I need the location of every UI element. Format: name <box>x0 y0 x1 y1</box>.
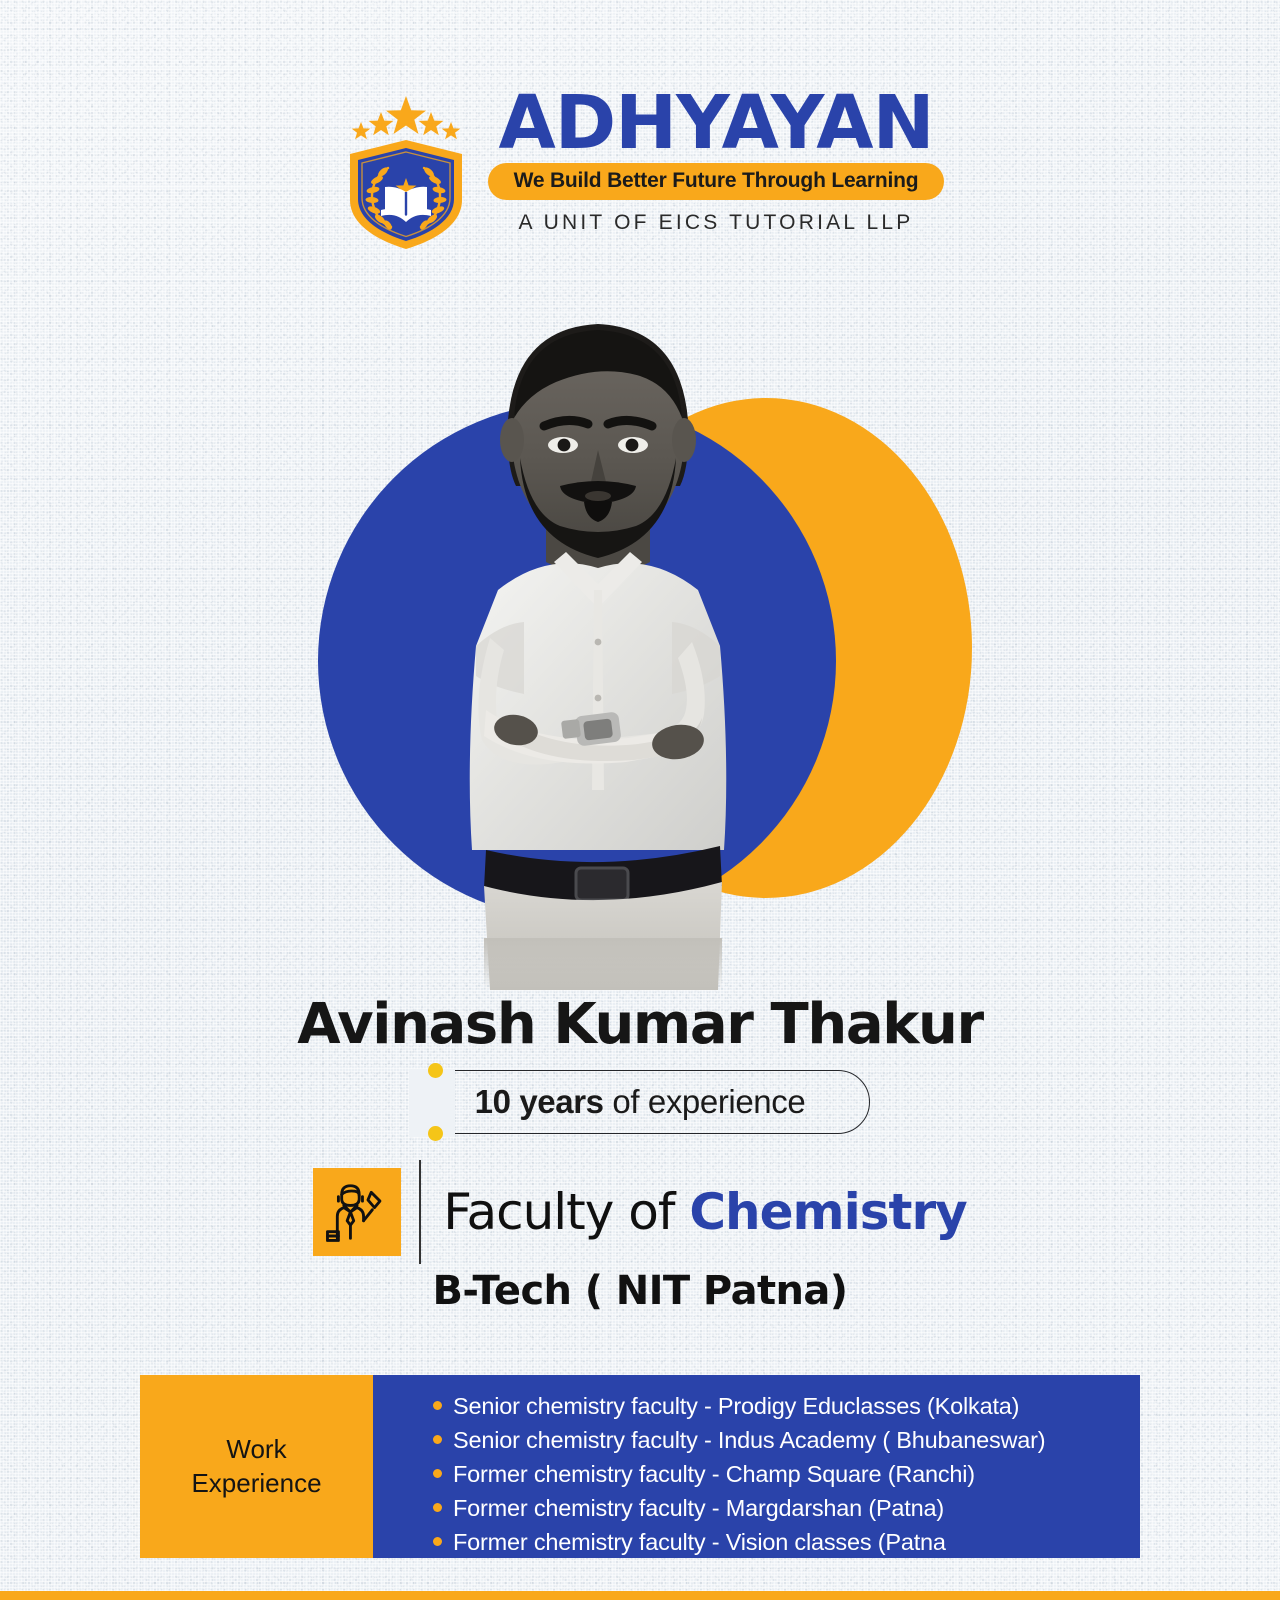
work-label-line1: Work <box>226 1434 286 1464</box>
degree-text: B-Tech ( NIT Patna) <box>0 1268 1280 1314</box>
bullet-icon <box>433 1503 442 1512</box>
list-item: Former chemistry faculty - Champ Square … <box>433 1457 1130 1491</box>
footer-accent-bar <box>0 1591 1280 1600</box>
portrait-photo <box>348 290 848 990</box>
bullet-icon <box>433 1469 442 1478</box>
experience-badge: 10 years of experience <box>0 1070 1280 1134</box>
hero-section <box>0 380 1280 1000</box>
list-item: Former chemistry faculty - Vision classe… <box>433 1525 1130 1559</box>
faculty-subject: Chemistry <box>689 1183 966 1241</box>
faculty-row: Faculty of Chemistry <box>0 1160 1280 1264</box>
list-item-label: Senior chemistry faculty - Prodigy Educl… <box>453 1389 1019 1423</box>
experience-text: 10 years of experience <box>475 1083 806 1121</box>
profile-poster: ADHYAYAN We Build Better Future Through … <box>0 0 1280 1600</box>
bullet-icon <box>433 1537 442 1546</box>
work-experience-label: Work Experience <box>140 1375 373 1558</box>
brand-tagline: We Build Better Future Through Learning <box>488 163 945 200</box>
work-experience-section: Work Experience Senior chemistry faculty… <box>140 1375 1140 1558</box>
experience-years: 10 years <box>475 1083 604 1120</box>
work-label-line2: Experience <box>191 1468 321 1498</box>
bullet-icon <box>433 1401 442 1410</box>
shield-book-laurel-icon <box>336 92 476 252</box>
bullet-icon <box>433 1435 442 1444</box>
list-item-label: Senior chemistry faculty - Indus Academy… <box>453 1423 1045 1457</box>
accent-dot-top-icon <box>428 1063 443 1078</box>
list-item-label: Former chemistry faculty - Vision classe… <box>453 1525 946 1559</box>
faculty-title: Faculty of Chemistry <box>443 1183 966 1241</box>
experience-suffix: of experience <box>604 1083 806 1120</box>
list-item-label: Former chemistry faculty - Margdarshan (… <box>453 1491 944 1525</box>
faculty-prefix: Faculty of <box>443 1183 689 1241</box>
teacher-pointer-icon <box>313 1168 401 1256</box>
brand-unit-line: A UNIT OF EICS TUTORIAL LLP <box>519 211 914 235</box>
list-item: Senior chemistry faculty - Prodigy Educl… <box>433 1389 1130 1423</box>
faculty-divider <box>419 1160 421 1264</box>
page-title: Avinash Kumar Thakur <box>0 992 1280 1057</box>
accent-dot-bottom-icon <box>428 1126 443 1141</box>
list-item-label: Former chemistry faculty - Champ Square … <box>453 1457 975 1491</box>
list-item: Former chemistry faculty - Margdarshan (… <box>433 1491 1130 1525</box>
brand-wordmark: ADHYAYAN <box>498 88 933 159</box>
list-item: Senior chemistry faculty - Indus Academy… <box>433 1423 1130 1457</box>
work-experience-list: Senior chemistry faculty - Prodigy Educl… <box>373 1375 1140 1558</box>
brand-logo: ADHYAYAN We Build Better Future Through … <box>0 88 1280 252</box>
